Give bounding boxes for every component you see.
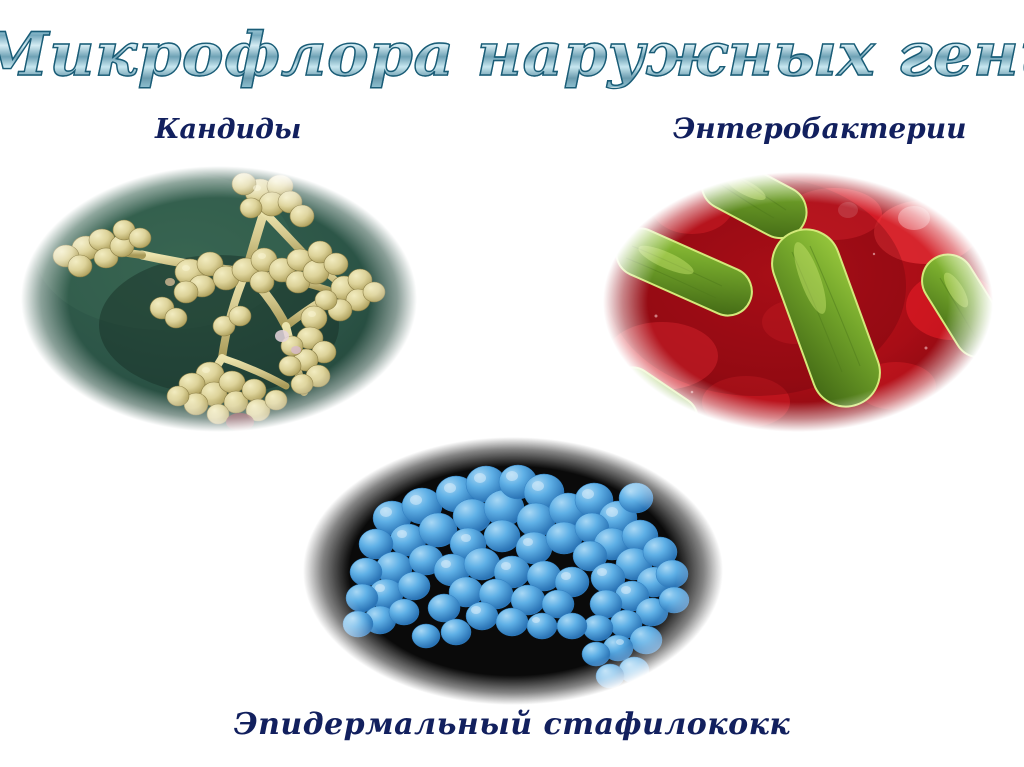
caption-enterobacteria: Энтеробактерии [673,112,966,145]
enterobacteria-micrograph [596,166,1000,438]
candida-micrograph [14,160,424,438]
page-title: Микрофлора наружных гениталий [0,24,1024,87]
enterobacteria-illustration [596,166,1000,438]
caption-candida: Кандиды [155,114,301,145]
staphylococcus-micrograph [296,432,730,710]
staphylococcus-illustration [296,432,730,710]
caption-staphylococcus: Эпидермальный стафилококк [0,707,1024,742]
candida-illustration [14,160,424,438]
slide-canvas: Микрофлора наружных гениталий Кандиды [0,0,1024,767]
